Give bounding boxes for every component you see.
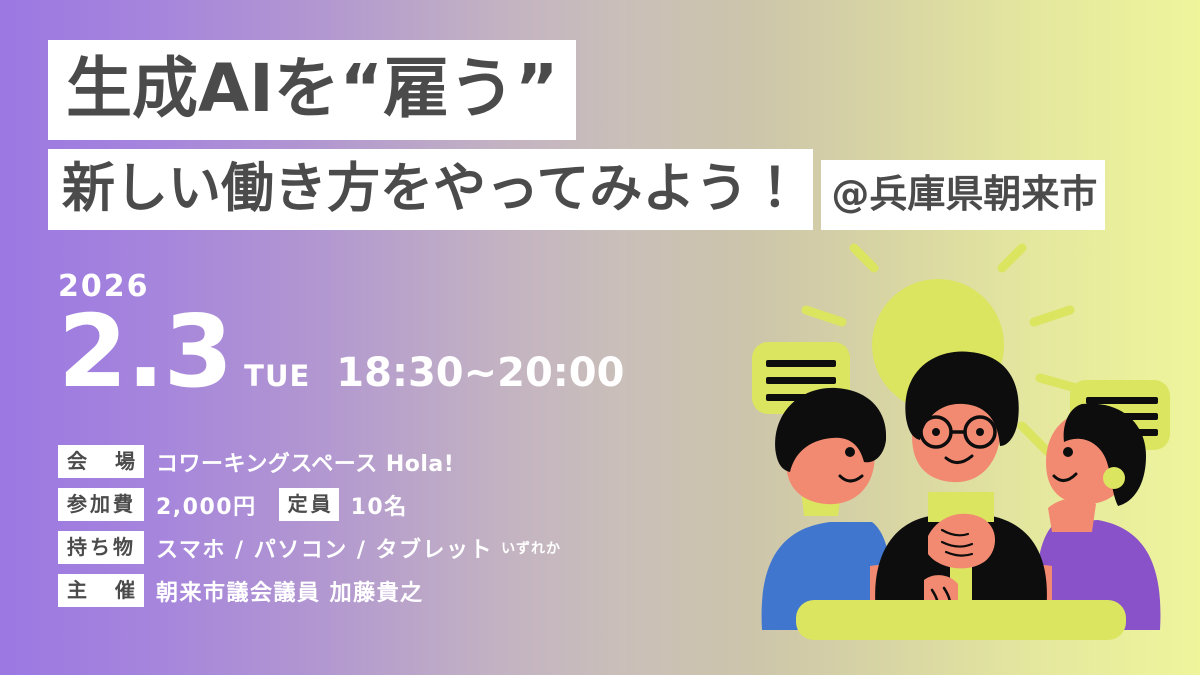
info-value-fee: 2,000円: [156, 489, 257, 521]
title-line-1: 生成AIを“雇う”: [48, 40, 1158, 140]
illustration: [746, 240, 1176, 640]
title-headline-secondary: 新しい働き方をやってみよう！: [48, 149, 813, 230]
info-row-venue: 会 場 コワーキングスペース Hola!: [58, 440, 561, 483]
info-label-bring: 持ち物: [58, 531, 144, 564]
info-label-venue: 会 場: [58, 445, 144, 478]
info-row-organizer: 主 催 朝来市議会議員 加藤貴之: [58, 569, 561, 612]
info-row-fee: 参加費 2,000円 定員 10名: [58, 483, 561, 526]
title-line-2: 新しい働き方をやってみよう！ @兵庫県朝来市: [48, 149, 1158, 230]
info-label-capacity: 定員: [279, 488, 339, 521]
info-label-venue-char-1: 会: [67, 451, 87, 471]
info-row-bring: 持ち物 スマホ / パソコン / タブレット いずれか: [58, 526, 561, 569]
info-label-organizer: 主 催: [58, 574, 144, 607]
date-row: 2.3 TUE 18:30~20:00: [58, 306, 624, 398]
info-value-organizer: 朝来市議会議員 加藤貴之: [156, 575, 424, 607]
title-headline-primary: 生成AIを“雇う”: [48, 40, 576, 140]
info-label-organizer-char-2: 催: [115, 580, 135, 600]
event-time: 18:30~20:00: [336, 350, 624, 396]
info-note-bring: いずれか: [501, 538, 561, 558]
location-badge: @兵庫県朝来市: [821, 160, 1105, 230]
event-date: 2.3: [58, 306, 232, 398]
event-weekday: TUE: [244, 359, 310, 393]
event-poster: 生成AIを“雇う” 新しい働き方をやってみよう！ @兵庫県朝来市 2026 2.…: [0, 0, 1200, 675]
info-value-bring: スマホ / パソコン / タブレット: [156, 532, 493, 564]
info-value-capacity: 10名: [351, 489, 408, 521]
date-block: 2026 2.3 TUE 18:30~20:00: [58, 272, 624, 398]
info-value-venue: コワーキングスペース Hola!: [156, 446, 454, 478]
info-label-fee: 参加費: [58, 488, 144, 521]
desk: [796, 600, 1126, 640]
info-label-venue-char-2: 場: [115, 451, 135, 471]
info-label-organizer-char-1: 主: [67, 580, 87, 600]
title-block: 生成AIを“雇う” 新しい働き方をやってみよう！ @兵庫県朝来市: [48, 40, 1158, 230]
earring: [1103, 467, 1125, 489]
info-block: 会 場 コワーキングスペース Hola! 参加費 2,000円 定員 10名 持…: [58, 440, 561, 612]
